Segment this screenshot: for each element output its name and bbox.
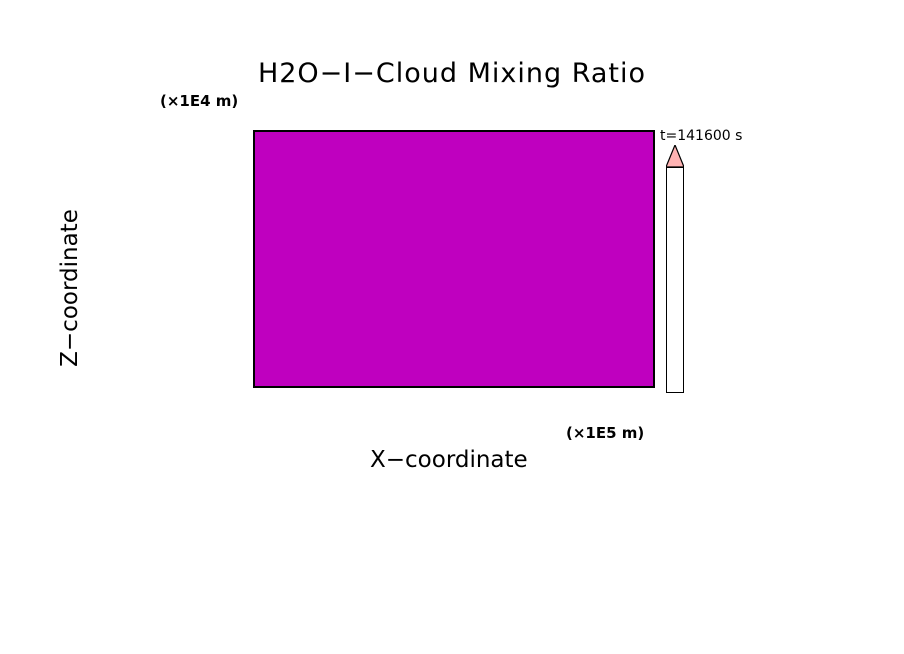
y-axis-title: Z−coordinate <box>57 158 83 418</box>
page-title: H2O−I−Cloud Mixing Ratio <box>0 58 904 89</box>
colorbar-bands <box>666 167 684 393</box>
time-annotation: t=141600 s <box>660 128 742 144</box>
colorbar-over-arrow <box>666 145 684 167</box>
colorbar <box>666 167 684 393</box>
y-axis-units-label: (×1E4 m) <box>160 92 238 110</box>
x-axis-units-label: (×1E5 m) <box>566 424 644 442</box>
x-axis-title: X−coordinate <box>370 447 528 473</box>
contour-field <box>255 132 653 386</box>
contour-plot-area <box>253 130 655 388</box>
